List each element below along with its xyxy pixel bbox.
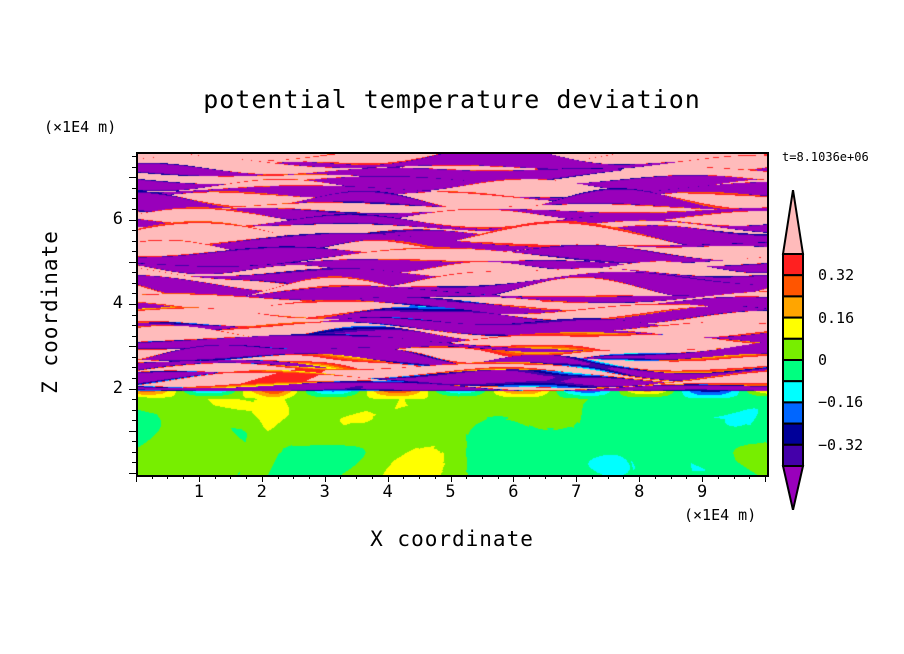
x-tick-minor [419, 475, 420, 479]
colorbar-tick-label: 0.16 [818, 309, 854, 327]
x-tick-minor [498, 475, 499, 479]
contour-field-canvas [138, 154, 767, 475]
y-tick-minor [132, 441, 136, 442]
x-tick-label: 3 [310, 482, 340, 502]
colorbar-tick-label: −0.16 [818, 393, 863, 411]
y-tick-major [129, 304, 136, 305]
x-tick-minor [230, 475, 231, 479]
plot-area[interactable] [136, 152, 769, 477]
colorbar[interactable] [778, 190, 808, 510]
y-tick-major [129, 389, 136, 390]
y-tick-major [129, 220, 136, 221]
y-tick-minor [132, 188, 136, 189]
x-tick-minor [608, 475, 609, 479]
figure-root: potential temperature deviation (×1E4 m)… [0, 0, 904, 654]
colorbar-tick-label: 0.32 [818, 266, 854, 284]
x-tick-label: 7 [561, 482, 591, 502]
x-tick-minor [278, 475, 279, 479]
y-tick-minor [132, 198, 136, 199]
colorbar-band [783, 381, 803, 402]
page-title: potential temperature deviation [0, 85, 904, 114]
y-tick-minor [132, 272, 136, 273]
x-tick-minor [561, 475, 562, 479]
colorbar-tick-label: −0.32 [818, 436, 863, 454]
x-tick-minor [340, 475, 341, 479]
y-tick-major [129, 346, 136, 347]
x-axis-unit-label: (×1E4 m) [684, 506, 756, 524]
colorbar-band [783, 254, 803, 275]
y-tick-minor [132, 156, 136, 157]
y-tick-minor [132, 230, 136, 231]
y-tick-minor [132, 357, 136, 358]
x-tick-minor [686, 475, 687, 479]
y-tick-minor [132, 399, 136, 400]
y-tick-minor [132, 251, 136, 252]
colorbar-under-arrow [783, 466, 803, 510]
y-axis-unit-label: (×1E4 m) [44, 118, 116, 136]
x-tick-major [262, 475, 263, 482]
x-tick-major [765, 475, 766, 482]
x-tick-minor [545, 475, 546, 479]
colorbar-band [783, 424, 803, 445]
colorbar-band [783, 360, 803, 381]
x-tick-major [576, 475, 577, 482]
x-tick-minor [466, 475, 467, 479]
y-tick-label: 2 [93, 378, 123, 398]
y-tick-minor [132, 378, 136, 379]
x-tick-minor [734, 475, 735, 479]
x-tick-minor [403, 475, 404, 479]
x-tick-label: 6 [498, 482, 528, 502]
x-tick-major [325, 475, 326, 482]
x-tick-minor [623, 475, 624, 479]
x-tick-minor [592, 475, 593, 479]
y-tick-minor [132, 209, 136, 210]
y-tick-minor [132, 367, 136, 368]
colorbar-band [783, 296, 803, 317]
colorbar-band [783, 318, 803, 339]
x-tick-minor [246, 475, 247, 479]
x-tick-minor [293, 475, 294, 479]
y-tick-major [129, 473, 136, 474]
colorbar-band [783, 339, 803, 360]
colorbar-over-arrow [783, 190, 803, 254]
y-axis-title: Z coordinate [38, 202, 62, 422]
y-tick-minor [132, 167, 136, 168]
x-tick-major [199, 475, 200, 482]
x-tick-label: 4 [373, 482, 403, 502]
x-tick-major [136, 475, 137, 482]
x-tick-minor [167, 475, 168, 479]
colorbar-band [783, 445, 803, 466]
time-annotation: t=8.1036e+06 [782, 150, 869, 164]
x-tick-minor [655, 475, 656, 479]
x-tick-major [451, 475, 452, 482]
x-tick-minor [749, 475, 750, 479]
y-tick-minor [132, 420, 136, 421]
x-tick-label: 5 [436, 482, 466, 502]
y-tick-major [129, 177, 136, 178]
y-tick-minor [132, 336, 136, 337]
x-tick-label: 8 [624, 482, 654, 502]
x-tick-minor [718, 475, 719, 479]
x-tick-label: 1 [184, 482, 214, 502]
y-tick-minor [132, 452, 136, 453]
x-tick-minor [671, 475, 672, 479]
x-tick-major [639, 475, 640, 482]
y-tick-minor [132, 283, 136, 284]
colorbar-swatches [778, 190, 808, 510]
y-tick-minor [132, 462, 136, 463]
y-tick-major [129, 431, 136, 432]
x-tick-minor [435, 475, 436, 479]
y-tick-minor [132, 315, 136, 316]
colorbar-band [783, 402, 803, 423]
colorbar-tick-label: 0 [818, 351, 827, 369]
x-tick-minor [183, 475, 184, 479]
x-tick-major [702, 475, 703, 482]
colorbar-band [783, 275, 803, 296]
x-tick-major [513, 475, 514, 482]
x-tick-minor [529, 475, 530, 479]
y-tick-minor [132, 241, 136, 242]
y-tick-major [129, 262, 136, 263]
y-tick-minor [132, 293, 136, 294]
x-tick-minor [309, 475, 310, 479]
y-tick-label: 6 [93, 209, 123, 229]
x-tick-label: 9 [687, 482, 717, 502]
x-tick-minor [482, 475, 483, 479]
x-tick-label: 2 [247, 482, 277, 502]
y-tick-minor [132, 410, 136, 411]
x-axis-title: X coordinate [0, 527, 904, 551]
x-tick-minor [356, 475, 357, 479]
x-tick-minor [152, 475, 153, 479]
y-tick-label: 4 [93, 293, 123, 313]
x-tick-major [388, 475, 389, 482]
y-tick-minor [132, 325, 136, 326]
x-tick-minor [372, 475, 373, 479]
x-tick-minor [215, 475, 216, 479]
